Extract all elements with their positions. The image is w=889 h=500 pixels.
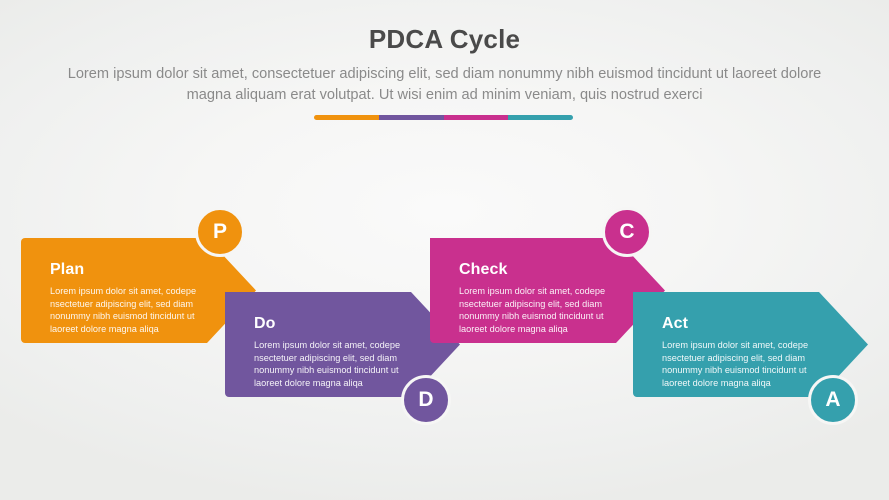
- badge-do[interactable]: D: [401, 375, 451, 425]
- badge-check-letter: C: [619, 221, 634, 242]
- check-description: Lorem ipsum dolor sit amet, codepe nsect…: [459, 280, 631, 335]
- divider-segment-4: [508, 115, 573, 120]
- badge-check[interactable]: C: [602, 207, 652, 257]
- header: PDCA Cycle Lorem ipsum dolor sit amet, c…: [0, 0, 889, 106]
- act-description: Lorem ipsum dolor sit amet, codepe nsect…: [662, 334, 834, 389]
- subtitle: Lorem ipsum dolor sit amet, consectetuer…: [60, 56, 830, 106]
- infographic-canvas: PDCA Cycle Lorem ipsum dolor sit amet, c…: [0, 0, 889, 500]
- check-title: Check: [459, 260, 639, 280]
- divider-segment-2: [379, 115, 444, 120]
- badge-plan-letter: P: [213, 221, 227, 242]
- act-title: Act: [662, 314, 842, 334]
- divider-segment-3: [444, 115, 509, 120]
- page-title: PDCA Cycle: [0, 0, 889, 56]
- badge-act[interactable]: A: [808, 375, 858, 425]
- badge-do-letter: D: [418, 389, 433, 410]
- do-description: Lorem ipsum dolor sit amet, codepe nsect…: [254, 334, 426, 389]
- plan-title: Plan: [50, 260, 230, 280]
- badge-plan[interactable]: P: [195, 207, 245, 257]
- plan-description: Lorem ipsum dolor sit amet, codepe nsect…: [50, 280, 222, 335]
- do-title: Do: [254, 314, 434, 334]
- divider-segment-1: [314, 115, 379, 120]
- badge-act-letter: A: [825, 389, 840, 410]
- color-divider-bar: [314, 115, 573, 120]
